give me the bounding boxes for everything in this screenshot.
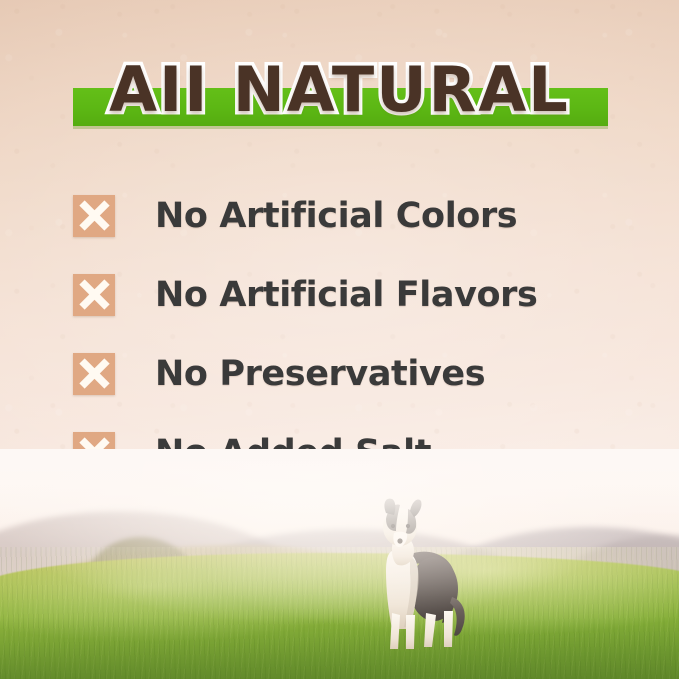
claims-list: No Artificial Colors No Artificial Flavo…	[73, 176, 633, 492]
grass-shadow	[0, 617, 679, 679]
claim-label: No Artificial Flavors	[155, 275, 537, 315]
landscape-photo	[0, 449, 679, 679]
page-title: AII NATURAL	[0, 46, 679, 134]
x-mark-icon	[73, 274, 115, 316]
list-item: No Preservatives	[73, 334, 633, 413]
headline-banner: AII NATURAL	[0, 46, 679, 136]
claim-label: No Artificial Colors	[155, 196, 517, 236]
x-mark-icon	[73, 195, 115, 237]
claim-label: No Preservatives	[155, 354, 485, 394]
product-feature-poster: AII NATURAL No Artificial Colors No Arti…	[0, 0, 679, 679]
list-item: No Artificial Flavors	[73, 255, 633, 334]
list-item: No Artificial Colors	[73, 176, 633, 255]
dog-illustration	[352, 497, 472, 657]
x-mark-icon	[73, 353, 115, 395]
